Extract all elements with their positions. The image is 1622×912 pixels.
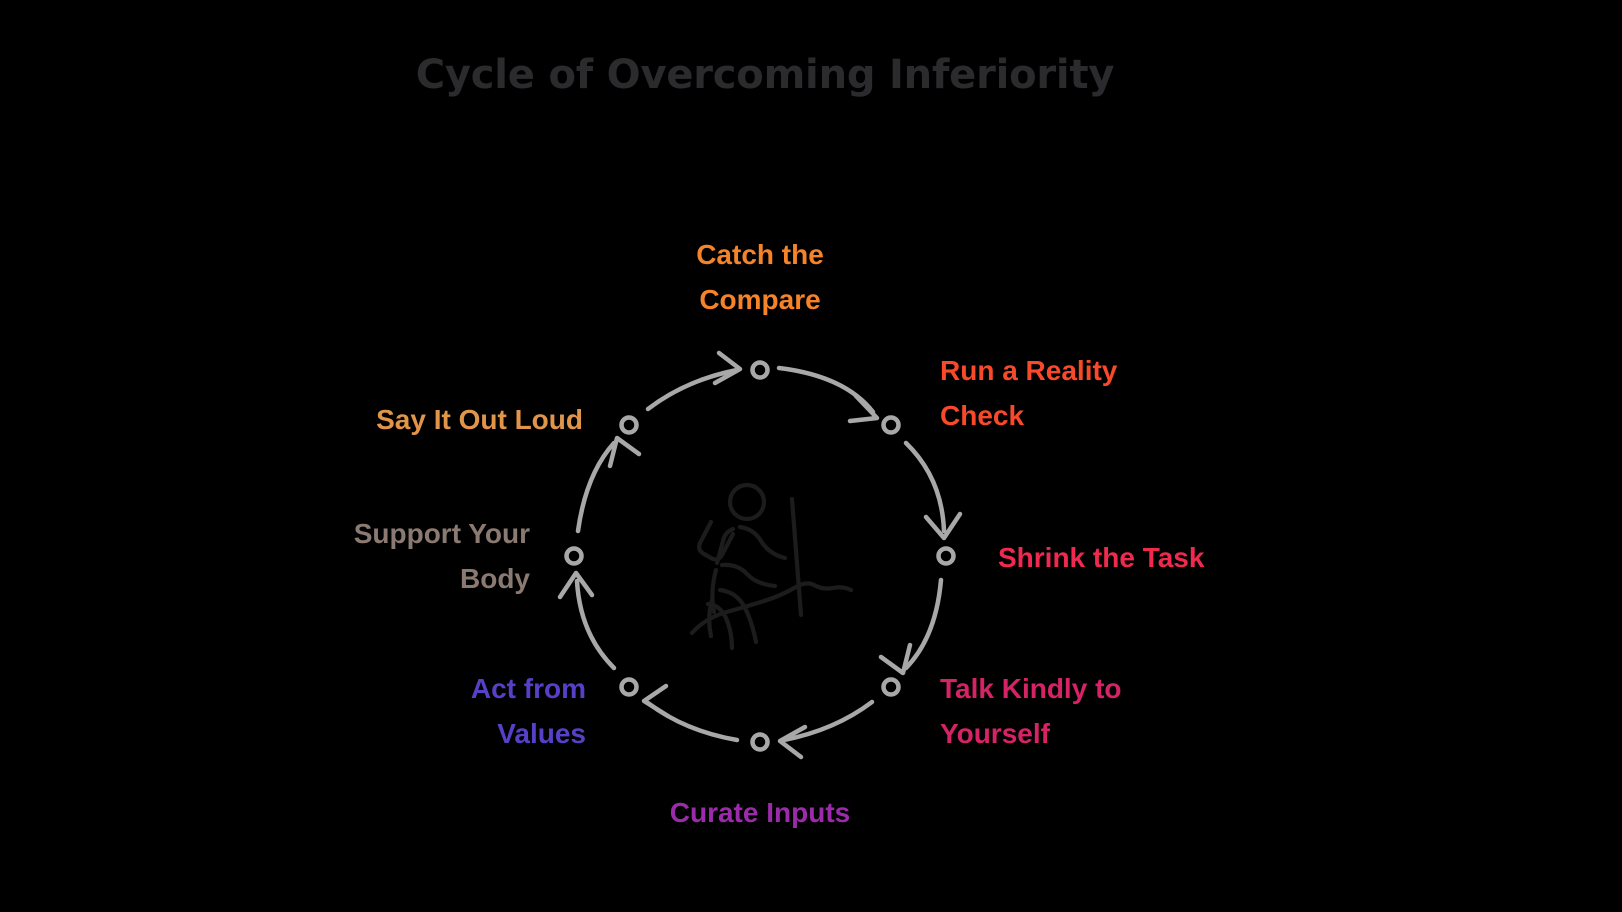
connector-arrow-5 [644,686,737,740]
hiker-climbing-icon [692,485,851,648]
cycle-nodes [567,363,954,750]
connector-arrow-2 [906,443,960,538]
cycle-label-say-it-out-loud[interactable]: Say It Out Loud [180,397,583,442]
cycle-node-say-it-out-loud[interactable] [622,418,637,433]
connector-arrow-8 [648,353,740,409]
cycle-node-talk-kindly-to-yourself[interactable] [884,680,899,695]
diagram-canvas: Cycle of Overcoming Inferiority [0,0,1622,912]
cycle-node-act-from-values[interactable] [622,680,637,695]
cycle-label-shrink-the-task[interactable]: Shrink the Task [998,535,1418,580]
cycle-label-run-a-reality-check[interactable]: Run a Reality Check [940,348,1340,439]
connector-arrow-7 [578,438,639,531]
cycle-node-support-your-body[interactable] [567,549,582,564]
cycle-label-talk-kindly-to-yourself[interactable]: Talk Kindly to Yourself [940,666,1360,757]
cycle-label-support-your-body[interactable]: Support Your Body [140,511,530,602]
connector-arrow-6 [560,573,614,668]
cycle-label-act-from-values[interactable]: Act from Values [200,666,586,757]
cycle-node-run-a-reality-check[interactable] [884,418,899,433]
cycle-label-curate-inputs[interactable]: Curate Inputs [610,790,910,835]
cycle-diagram-svg [0,0,1622,912]
connector-arrow-1 [779,368,877,421]
cycle-connectors [560,353,960,757]
connector-arrow-4 [780,702,872,757]
cycle-node-shrink-the-task[interactable] [939,549,954,564]
cycle-label-catch-the-compare[interactable]: Catch the Compare [605,232,915,323]
cycle-node-curate-inputs[interactable] [753,735,768,750]
connector-arrow-3 [881,580,941,673]
cycle-node-catch-the-compare[interactable] [753,363,768,378]
